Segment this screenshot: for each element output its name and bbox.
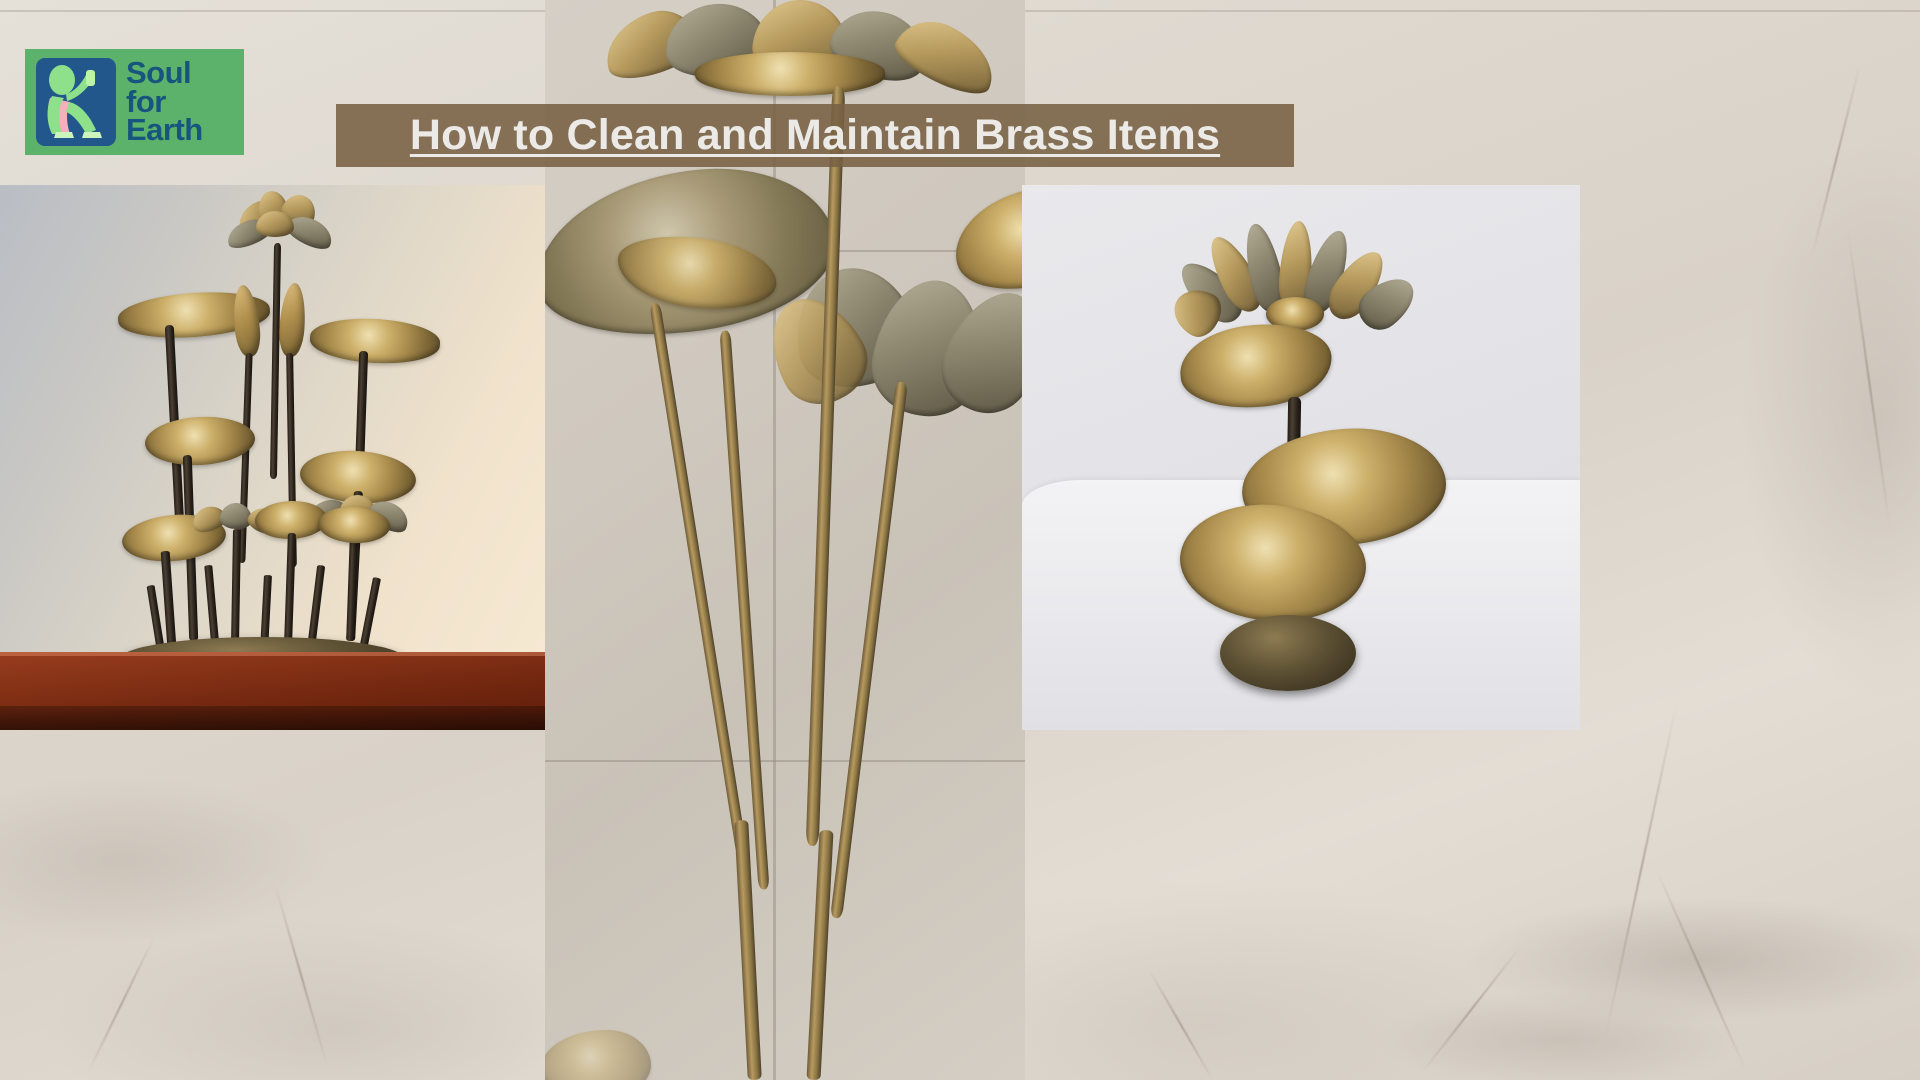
logo-wordmark: Soul for Earth [126,59,203,145]
person-sitting-icon [36,58,116,146]
table-edge-shadow [0,706,545,730]
left-photo [0,185,545,730]
right-photo [1022,185,1580,730]
logo-line-3: Earth [126,116,203,145]
page-title: How to Clean and Maintain Brass Items [410,111,1220,160]
title-banner: How to Clean and Maintain Brass Items [336,104,1294,167]
poster-canvas: Soul for Earth How to Clean and Maintain… [0,0,1920,1080]
logo-soul-for-earth[interactable]: Soul for Earth [25,49,244,155]
